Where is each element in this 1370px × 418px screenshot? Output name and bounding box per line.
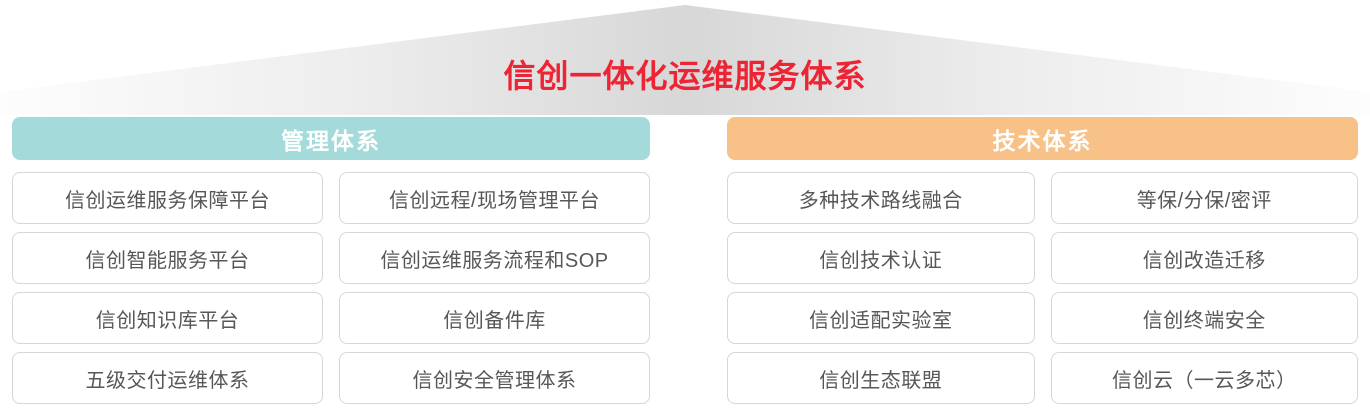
list-item[interactable]: 信创生态联盟 [727, 352, 1035, 404]
list-item[interactable]: 信创备件库 [339, 292, 650, 344]
list-item[interactable]: 信创运维服务流程和SOP [339, 232, 650, 284]
list-item[interactable]: 等保/分保/密评 [1051, 172, 1359, 224]
group-header-technology: 技术体系 [727, 117, 1358, 160]
list-item[interactable]: 信创远程/现场管理平台 [339, 172, 650, 224]
list-item[interactable]: 信创改造迁移 [1051, 232, 1359, 284]
list-item[interactable]: 信创适配实验室 [727, 292, 1035, 344]
list-item[interactable]: 信创智能服务平台 [12, 232, 323, 284]
group-technology: 技术体系 多种技术路线融合 等保/分保/密评 信创技术认证 信创改造迁移 信创适… [727, 117, 1358, 418]
group-management: 管理体系 信创运维服务保障平台 信创远程/现场管理平台 信创智能服务平台 信创运… [12, 117, 650, 418]
list-item[interactable]: 信创安全管理体系 [339, 352, 650, 404]
list-item[interactable]: 信创技术认证 [727, 232, 1035, 284]
group-grid-technology: 多种技术路线融合 等保/分保/密评 信创技术认证 信创改造迁移 信创适配实验室 … [727, 172, 1358, 404]
list-item[interactable]: 信创终端安全 [1051, 292, 1359, 344]
systems-container: 管理体系 信创运维服务保障平台 信创远程/现场管理平台 信创智能服务平台 信创运… [0, 117, 1370, 418]
list-item[interactable]: 信创知识库平台 [12, 292, 323, 344]
page-title: 信创一体化运维服务体系 [0, 56, 1370, 96]
list-item[interactable]: 五级交付运维体系 [12, 352, 323, 404]
banner-roof: 信创一体化运维服务体系 [0, 0, 1370, 115]
group-header-management: 管理体系 [12, 117, 650, 160]
list-item[interactable]: 多种技术路线融合 [727, 172, 1035, 224]
group-grid-management: 信创运维服务保障平台 信创远程/现场管理平台 信创智能服务平台 信创运维服务流程… [12, 172, 650, 404]
list-item[interactable]: 信创运维服务保障平台 [12, 172, 323, 224]
list-item[interactable]: 信创云（一云多芯） [1051, 352, 1359, 404]
